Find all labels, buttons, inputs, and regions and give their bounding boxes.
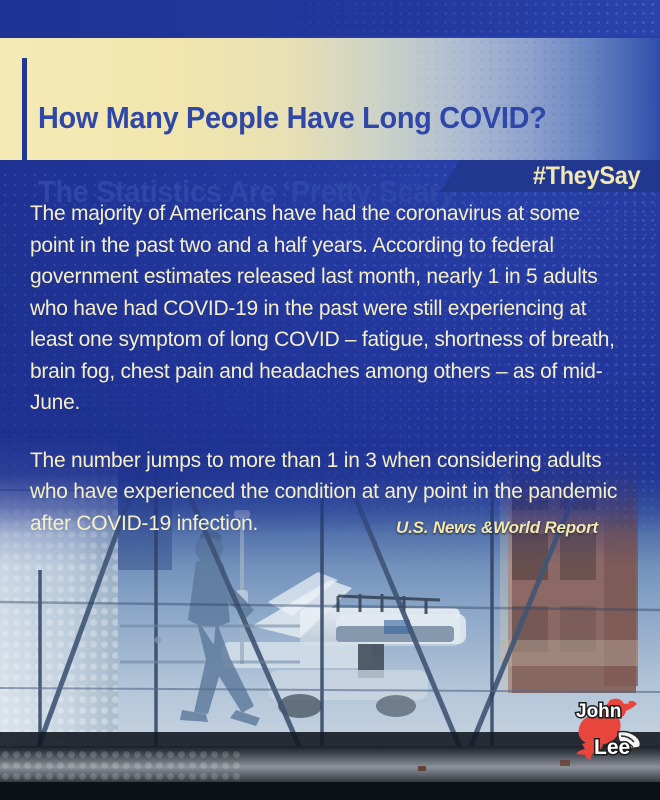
rooster-icon: John Lee (556, 690, 652, 768)
hashtag-badge-label: #TheySay (533, 162, 640, 190)
john-lee-logo: John Lee (556, 690, 652, 768)
headline-line-1: How Many People Have Long COVID? (38, 99, 596, 136)
top-strip-dots (0, 0, 660, 36)
body-copy: The majority of Americans have had the c… (30, 198, 623, 539)
logo-name-top: John (576, 701, 621, 722)
infographic-poster: How Many People Have Long COVID? The Sta… (0, 0, 660, 800)
top-blue-strip (0, 0, 660, 36)
logo-name-bottom: Lee (594, 736, 630, 759)
source-credit: U.S. News &World Report (396, 518, 598, 538)
paragraph-1: The majority of Americans have had the c… (30, 198, 623, 419)
headline-accent-bar (22, 58, 27, 160)
